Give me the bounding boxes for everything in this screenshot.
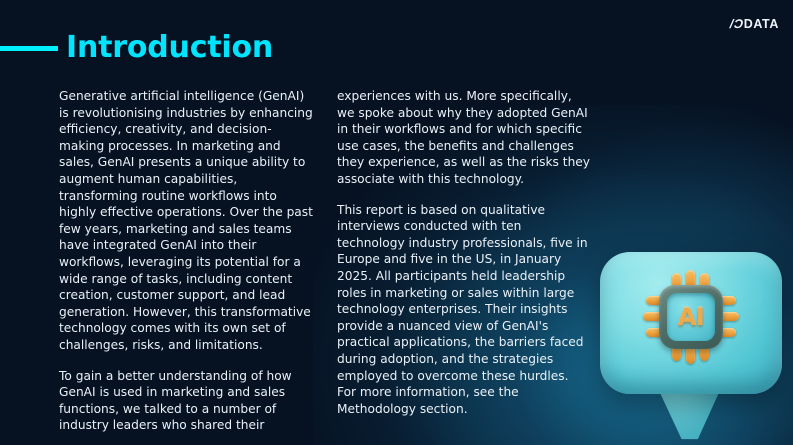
chip-label: AI: [678, 305, 705, 329]
chip-frame: AI: [659, 285, 723, 349]
page-title-row: Introduction: [0, 33, 273, 63]
speech-bubble-icon: AI: [600, 252, 782, 394]
ai-chip-speech-bubble-illustration: AI: [600, 252, 782, 442]
page-title: Introduction: [66, 33, 273, 63]
chip-icon: AI: [648, 274, 734, 360]
paragraph: To gain a better understanding of how Ge…: [59, 368, 313, 434]
logo-wordmark: DATA: [744, 17, 779, 31]
chip-core: AI: [667, 293, 715, 341]
paragraph: Generative artificial intelligence (GenA…: [59, 88, 313, 354]
title-accent-rule-icon: [0, 46, 58, 51]
paragraph: experiences with us. More specifically, …: [337, 88, 591, 188]
body-column-right: experiences with us. More specifically, …: [337, 88, 591, 434]
paragraph: This report is based on qualitative inte…: [337, 202, 591, 418]
slide-introduction: /ƆDATA Introduction Generative artificia…: [0, 0, 793, 445]
body-columns: Generative artificial intelligence (GenA…: [59, 88, 671, 434]
body-column-left: Generative artificial intelligence (GenA…: [59, 88, 313, 434]
brand-logo: /ƆDATA: [730, 17, 779, 31]
